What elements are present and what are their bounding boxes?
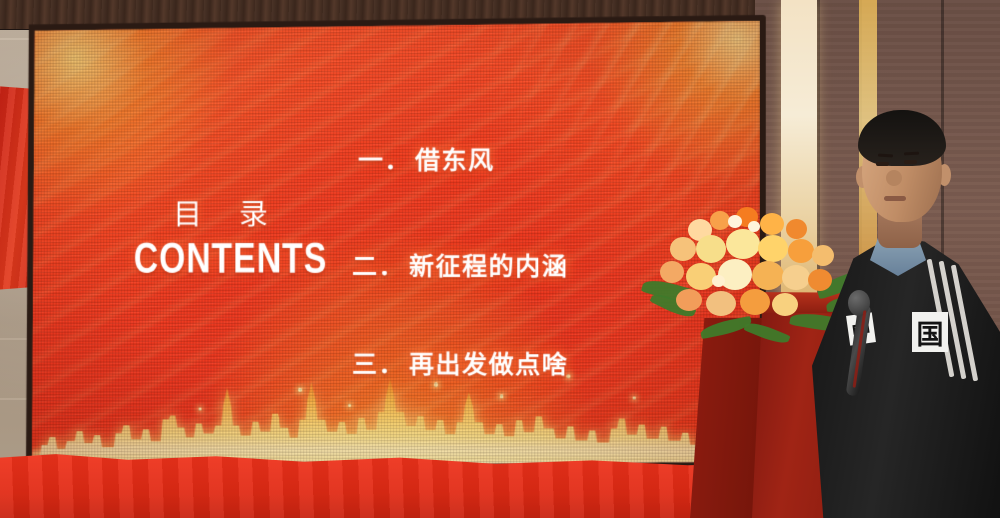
toc-item-3-number: 三． [352, 350, 405, 379]
slide-heading-english: CONTENTS [134, 237, 308, 280]
slide-heading-chinese: 目 录 [131, 200, 310, 229]
toc-item-2-number: 二． [352, 252, 405, 281]
toc-item-2-label: 新征程的内涵 [409, 252, 568, 281]
city-skyline-graphic [32, 375, 760, 469]
speaker-hair [858, 110, 946, 166]
toc-item-3-label: 再出发做点啥 [409, 350, 568, 379]
toc-item-2: 二．新征程的内涵 [352, 254, 568, 279]
jacket-badge-right: 国 [912, 312, 948, 352]
microphone-head [848, 290, 870, 316]
speaker-person: 中 国 [812, 108, 1000, 518]
toc-item-1-label: 借东风 [415, 146, 495, 175]
conference-photo-scene: 目 录 CONTENTS 一．借东风 二．新征程的内涵 三．再出发做点啥 [0, 0, 1000, 518]
toc-item-3: 三．再出发做点啥 [352, 352, 568, 377]
toc-item-1: 一．借东风 [358, 148, 495, 173]
slide-heading-block: 目 录 CONTENTS [131, 200, 310, 272]
toc-item-1-number: 一． [358, 146, 411, 175]
